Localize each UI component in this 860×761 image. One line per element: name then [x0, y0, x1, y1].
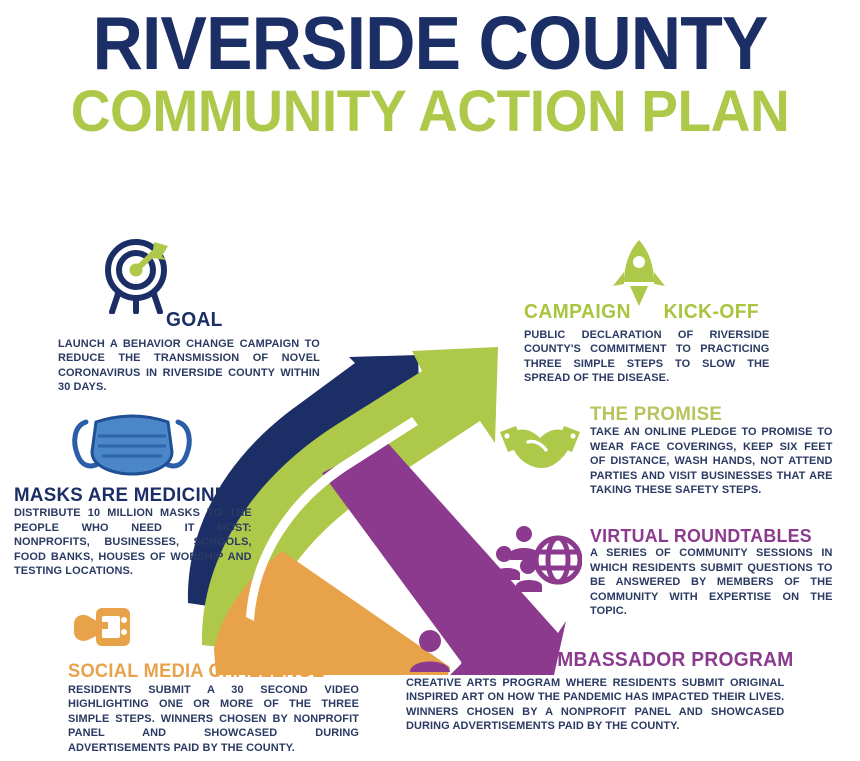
campaign-heading-part1: CAMPAIGN	[524, 301, 631, 323]
arrow-gap-navy-green	[246, 417, 418, 621]
roundtables-heading: VIRTUAL ROUNDTABLES	[590, 526, 830, 545]
handshake-icon	[498, 416, 582, 483]
promise-body-text: TAKE AN ONLINE PLEDGE TO PROMISE TO WEAR…	[590, 425, 833, 497]
goal-icon-row	[58, 238, 328, 314]
section-social-media-challenge: SOCIAL MEDIA CHALLENGE RESIDENTS SUBMIT …	[68, 604, 368, 755]
campaign-heading-part2: KICK-OFF	[664, 301, 760, 323]
masks-heading: MASKS ARE MEDICINE	[14, 485, 249, 505]
infographic-poster: RIVERSIDE COUNTY COMMUNITY ACTION PLAN	[0, 0, 860, 761]
promise-heading: THE PROMISE	[590, 404, 830, 424]
section-the-promise: THE PROMISE TAKE AN ONLINE PLEDGE TO PRO…	[590, 404, 840, 498]
ambassador-body-text: CREATIVE ARTS PROGRAM WHERE RESIDENTS SU…	[406, 676, 784, 734]
social-media-heading: SOCIAL MEDIA CHALLENGE	[68, 662, 356, 682]
poster-title-secondary: COMMUNITY ACTION PLAN	[22, 83, 839, 141]
roundtables-body-text: A SERIES OF COMMUNITY SESSIONS IN WHICH …	[590, 546, 833, 618]
goal-body-text: LAUNCH A BEHAVIOR CHANGE CAMPAIGN TO RED…	[58, 337, 320, 395]
campaign-body-text: PUBLIC DECLARATION OF RIVERSIDE COUNTY'S…	[524, 328, 769, 386]
campaign-icon-row	[524, 238, 777, 306]
goal-heading: GOAL	[166, 310, 223, 331]
face-mask-icon	[68, 412, 259, 483]
target-dartboard-icon	[96, 238, 176, 319]
section-campaign-kickoff: CAMPAIGNKICK-OFF PUBLIC DECLARATION OF R…	[524, 238, 777, 386]
poster-title-primary: RIVERSIDE COUNTY	[30, 8, 830, 79]
social-media-body-text: RESIDENTS SUBMIT A 30 SECOND VIDEO HIGHL…	[68, 683, 359, 755]
campaign-heading-row: CAMPAIGNKICK-OFF	[524, 306, 777, 328]
person-avatar-icon	[406, 630, 454, 677]
goal-heading-row: GOAL	[58, 314, 328, 336]
section-virtual-roundtables: VIRTUAL ROUNDTABLES A SERIES OF COMMUNIT…	[590, 526, 840, 619]
people-globe-icon	[494, 522, 582, 597]
section-masks-are-medicine: MASKS ARE MEDICINE DISTRIBUTE 10 MILLION…	[14, 412, 259, 579]
masks-body-text: DISTRIBUTE 10 MILLION MASKS TO THE PEOPL…	[14, 506, 252, 578]
section-goal: GOAL LAUNCH A BEHAVIOR CHANGE CAMPAIGN T…	[58, 238, 328, 395]
ambassador-heading: HEALTH AMBASSADOR PROGRAM	[460, 650, 794, 671]
poster-title-block: RIVERSIDE COUNTY COMMUNITY ACTION PLAN	[0, 8, 860, 141]
hand-tap-screen-icon	[70, 604, 368, 659]
campaign-kickoff-heading: CAMPAIGNKICK-OFF	[524, 302, 759, 323]
